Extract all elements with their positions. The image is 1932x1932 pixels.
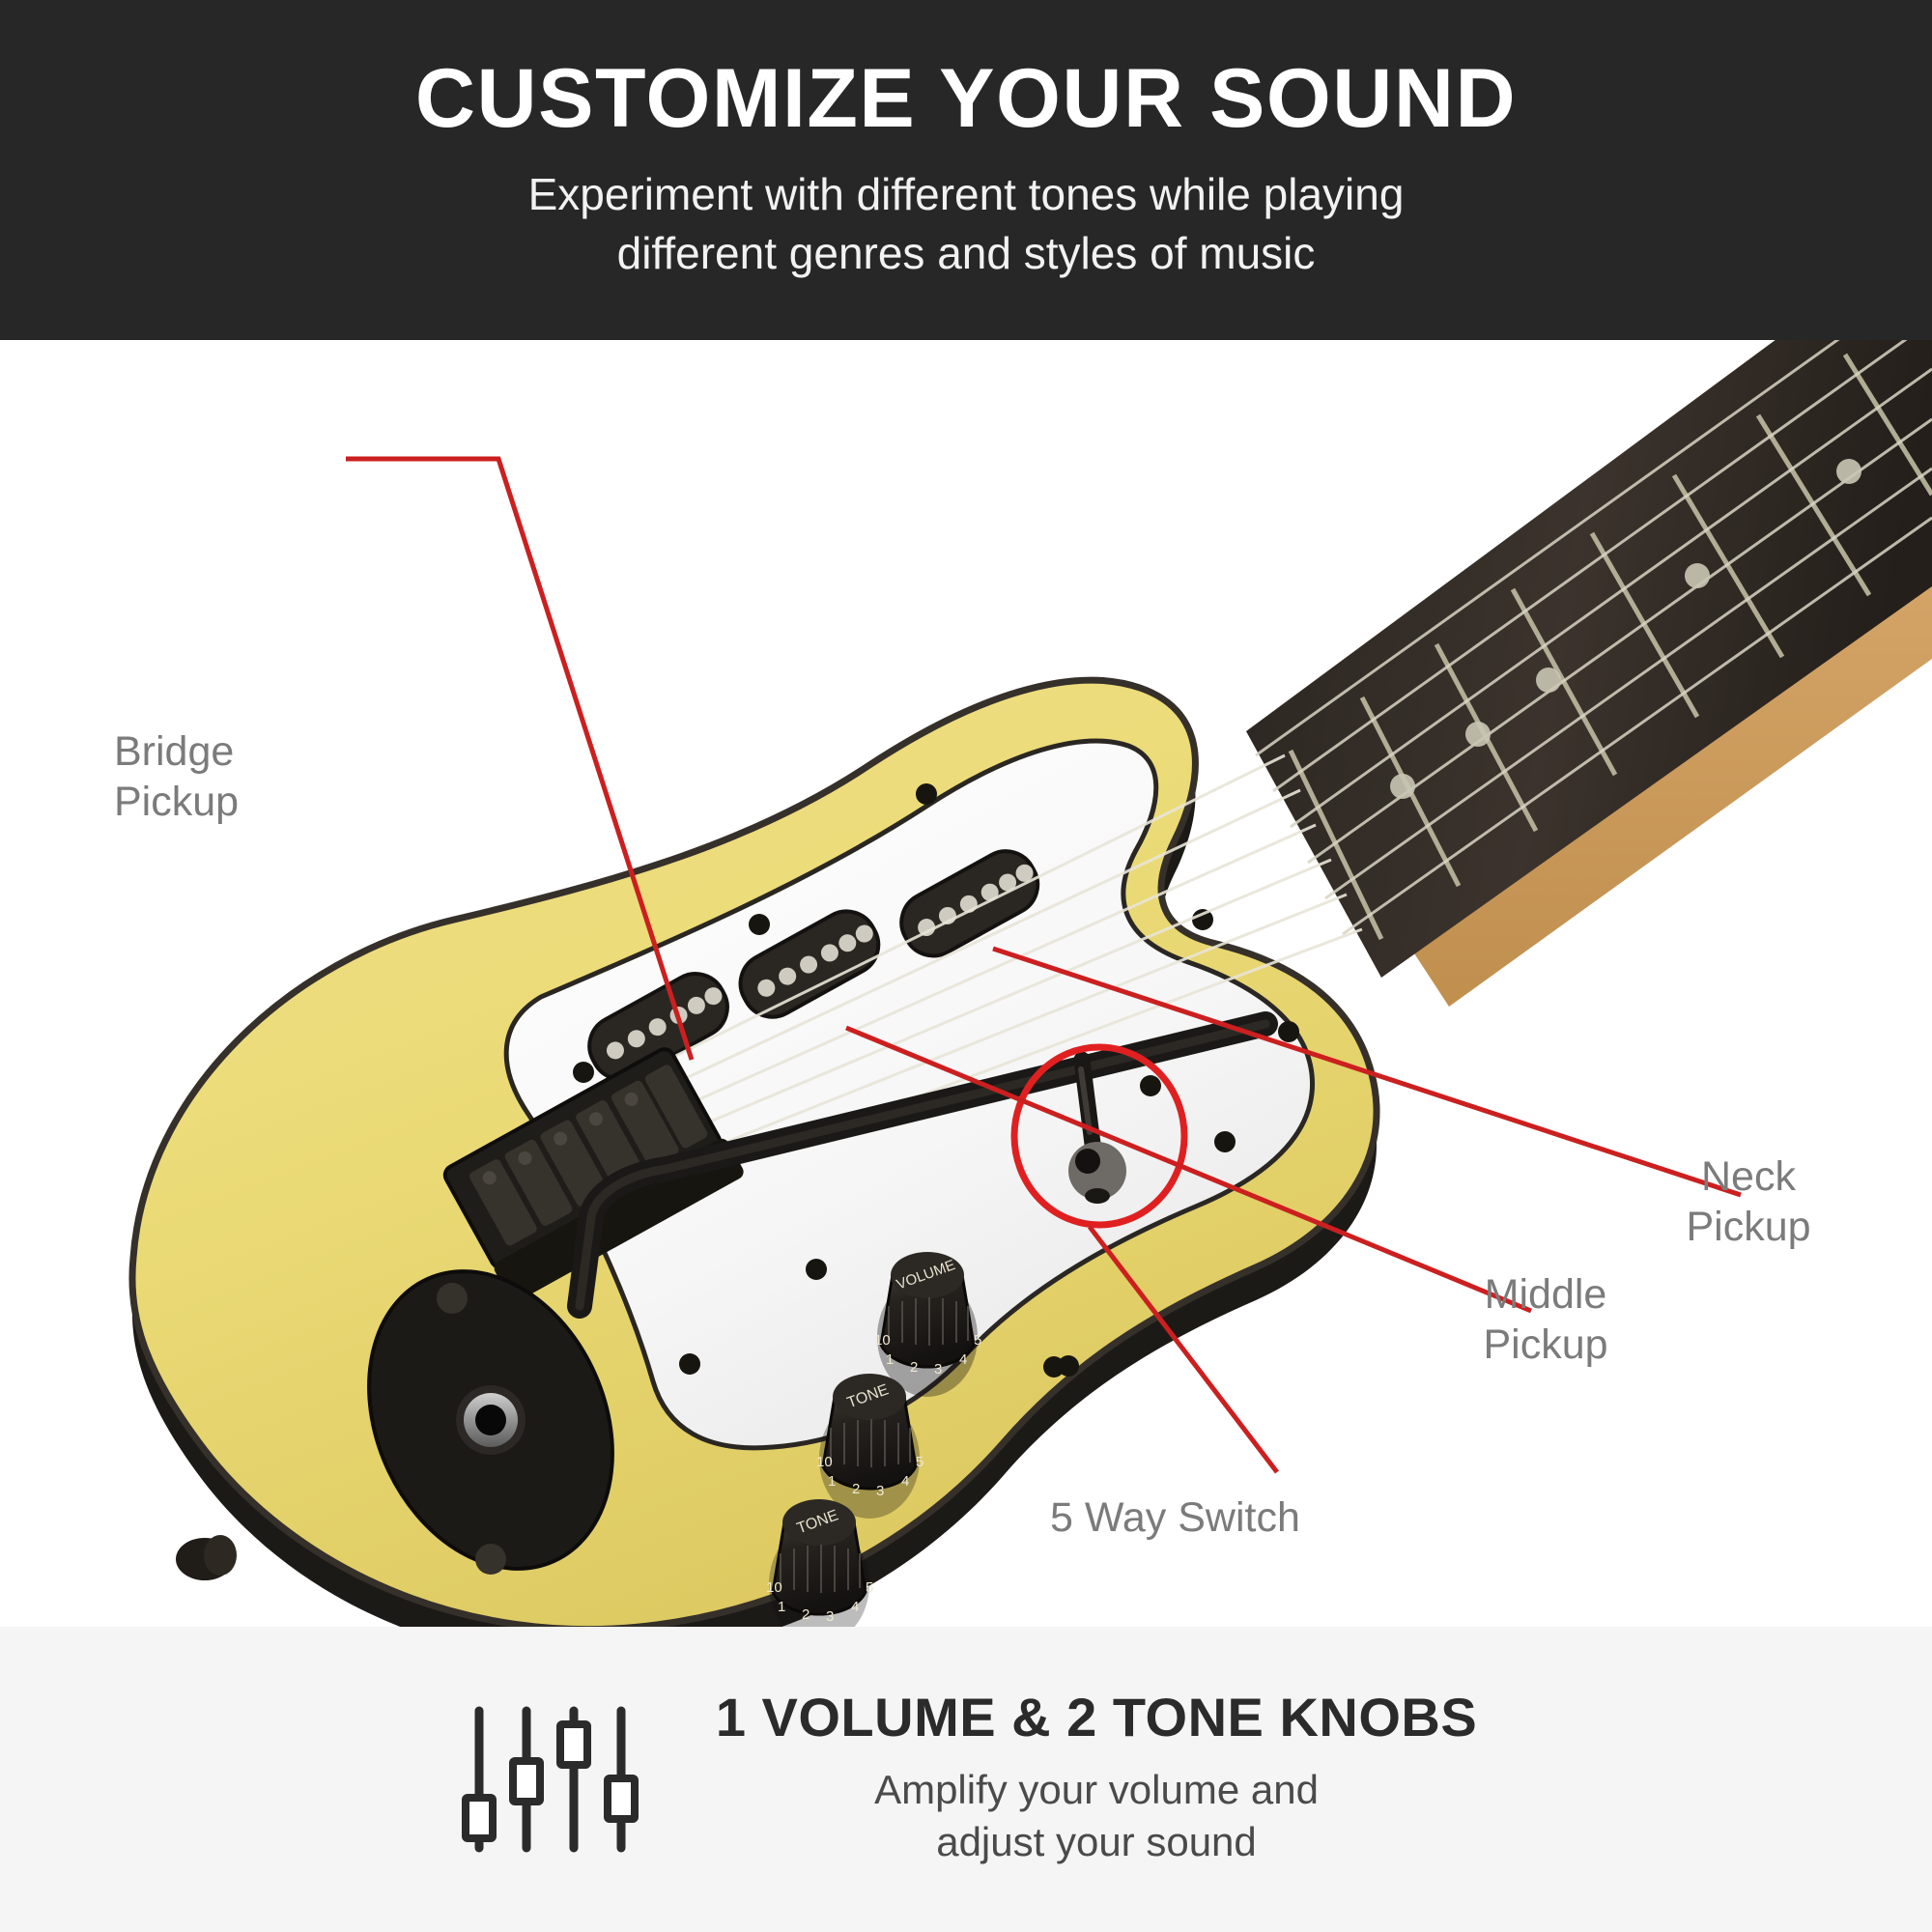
- svg-text:4: 4: [959, 1351, 967, 1368]
- svg-text:3: 3: [876, 1483, 884, 1499]
- svg-text:3: 3: [826, 1608, 834, 1625]
- svg-text:2: 2: [852, 1481, 860, 1497]
- svg-text:3: 3: [934, 1361, 942, 1378]
- footer-subtitle-line-2: adjust your sound: [716, 1816, 1477, 1869]
- callout-label-neck-pickup: Neck Pickup: [1686, 1151, 1810, 1253]
- svg-text:5: 5: [866, 1579, 873, 1596]
- footer-subtitle: Amplify your volume and adjust your soun…: [716, 1764, 1477, 1869]
- footer-title: 1 VOLUME & 2 TONE KNOBS: [716, 1690, 1477, 1747]
- header-subtitle: Experiment with different tones while pl…: [528, 165, 1405, 282]
- svg-text:1: 1: [886, 1351, 894, 1368]
- footer-text-block: 1 VOLUME & 2 TONE KNOBS Amplify your vol…: [716, 1690, 1477, 1869]
- callout-label-five-way-switch: 5 Way Switch: [1050, 1492, 1300, 1543]
- product-image-area: VOLUME 12 34 510: [0, 340, 1932, 1627]
- callout-label-middle-pickup: Middle Pickup: [1483, 1269, 1607, 1371]
- header-subtitle-line-2: different genres and styles of music: [528, 224, 1405, 283]
- svg-text:1: 1: [778, 1599, 785, 1615]
- svg-text:10: 10: [816, 1454, 833, 1470]
- footer-subtitle-line-1: Amplify your volume and: [716, 1764, 1477, 1817]
- footer-feature-bar: 1 VOLUME & 2 TONE KNOBS Amplify your vol…: [0, 1627, 1932, 1932]
- strap-button: [176, 1535, 237, 1580]
- callout-label-bridge-pickup: Bridge Pickup: [114, 726, 239, 828]
- header-banner: CUSTOMIZE YOUR SOUND Experiment with dif…: [0, 0, 1932, 340]
- svg-text:10: 10: [874, 1332, 891, 1349]
- svg-text:2: 2: [802, 1606, 810, 1623]
- svg-text:4: 4: [851, 1599, 859, 1615]
- guitar-neck: [1246, 340, 1932, 1007]
- svg-text:10: 10: [766, 1579, 782, 1596]
- svg-text:5: 5: [974, 1332, 981, 1349]
- svg-text:1: 1: [828, 1473, 836, 1490]
- electric-guitar-illustration: VOLUME 12 34 510: [0, 340, 1932, 1627]
- infographic-page: CUSTOMIZE YOUR SOUND Experiment with dif…: [0, 0, 1932, 1932]
- svg-text:2: 2: [910, 1359, 918, 1376]
- svg-text:5: 5: [916, 1454, 923, 1470]
- page-title: CUSTOMIZE YOUR SOUND: [415, 57, 1517, 140]
- svg-text:4: 4: [901, 1473, 909, 1490]
- sliders-icon: [455, 1697, 677, 1861]
- header-subtitle-line-1: Experiment with different tones while pl…: [528, 165, 1405, 224]
